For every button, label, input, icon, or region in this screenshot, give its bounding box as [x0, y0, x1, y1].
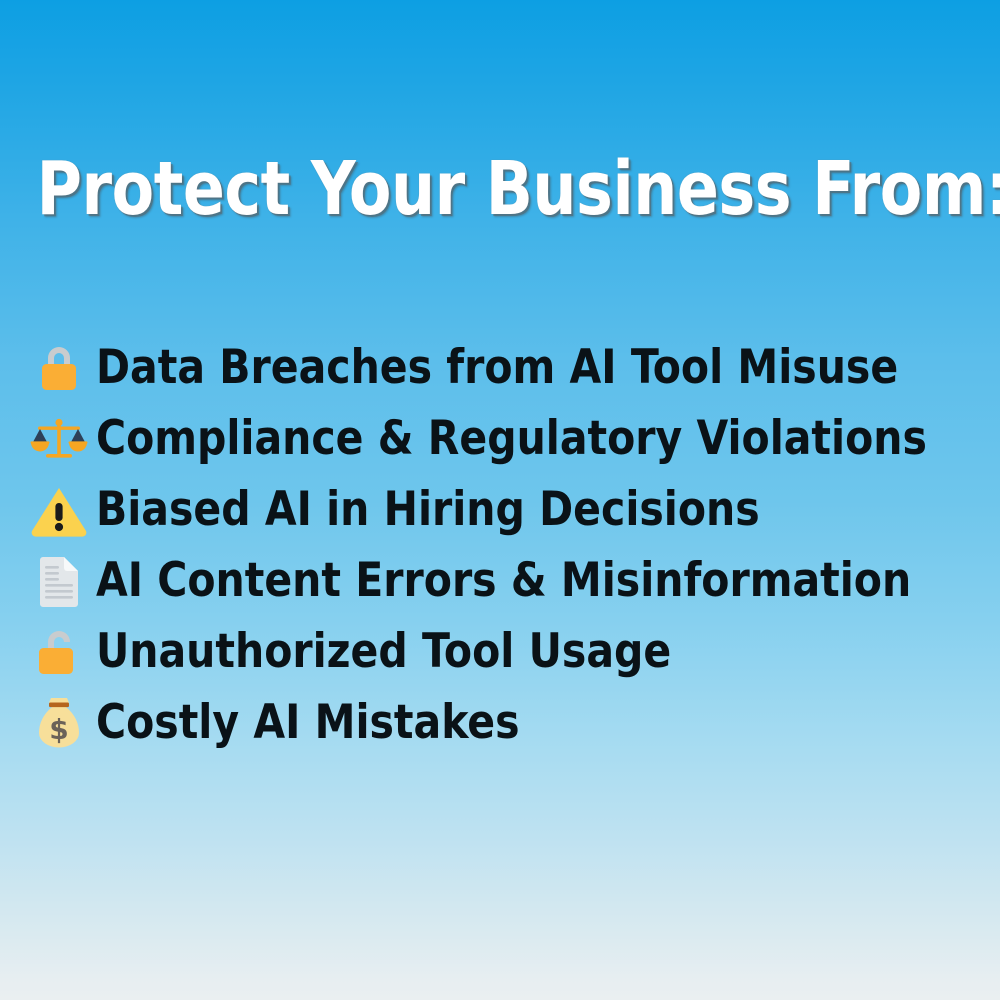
- open-padlock-icon: [28, 623, 90, 681]
- list-item-label: Compliance & Regulatory Violations: [96, 415, 927, 462]
- list-item-label: Costly AI Mistakes: [96, 699, 519, 746]
- list-item-label: Biased AI in Hiring Decisions: [96, 486, 760, 533]
- list-item: Data Breaches from AI Tool Misuse: [28, 332, 978, 403]
- list-item: AI Content Errors & Misinformation: [28, 545, 978, 616]
- list-item-label: Data Breaches from AI Tool Misuse: [96, 344, 898, 391]
- list-item: $ Costly AI Mistakes: [28, 687, 978, 758]
- list-item-label: AI Content Errors & Misinformation: [96, 557, 911, 604]
- list-item: Biased AI in Hiring Decisions: [28, 474, 978, 545]
- closed-padlock-icon: [28, 339, 90, 397]
- money-bag-icon: $: [28, 694, 90, 752]
- document-page-icon: [28, 552, 90, 610]
- poster-canvas: Protect Your Business From: Data Breache…: [0, 0, 1000, 1000]
- warning-triangle-icon: [28, 481, 90, 539]
- title-block: Protect Your Business From:: [0, 152, 1000, 226]
- list-item: Compliance & Regulatory Violations: [28, 403, 978, 474]
- list-item: Unauthorized Tool Usage: [28, 616, 978, 687]
- balance-scale-icon: [28, 410, 90, 468]
- list-item-label: Unauthorized Tool Usage: [96, 628, 671, 675]
- page-title: Protect Your Business From:: [37, 152, 1000, 226]
- threat-list: Data Breaches from AI Tool Misuse Compli…: [28, 332, 978, 758]
- svg-text:$: $: [49, 713, 68, 746]
